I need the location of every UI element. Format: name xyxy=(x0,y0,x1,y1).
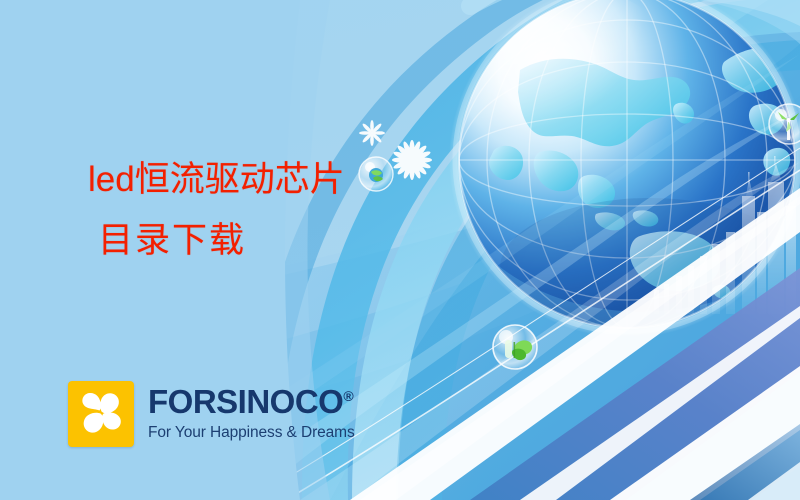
company-tagline: For Your Happiness & Dreams xyxy=(148,425,355,441)
bubble-leaf-icon xyxy=(493,325,537,369)
registered-trademark-icon: ® xyxy=(343,388,353,404)
white-flower-burst-large xyxy=(392,140,432,180)
logo-wordmark: FORSINOCO® For Your Happiness & Dreams xyxy=(148,381,355,441)
banner-canvas: led恒流驱动芯片 目录下载 FORSINOCO® For Your Happi… xyxy=(0,0,800,500)
forsinoco-pinwheel-flower-mark xyxy=(68,381,134,447)
headline-line-2: 目录下载 xyxy=(98,223,345,258)
bubble-globe-icon xyxy=(359,157,393,191)
forsinoco-logo[interactable]: FORSINOCO® For Your Happiness & Dreams xyxy=(68,381,355,447)
headline-line-1: led恒流驱动芯片 xyxy=(88,162,345,197)
headline-text: led恒流驱动芯片 目录下载 xyxy=(88,162,345,258)
pinwheel-flower-icon xyxy=(68,381,134,447)
white-flower-burst-small xyxy=(359,120,385,146)
company-name: FORSINOCO® xyxy=(148,385,355,418)
